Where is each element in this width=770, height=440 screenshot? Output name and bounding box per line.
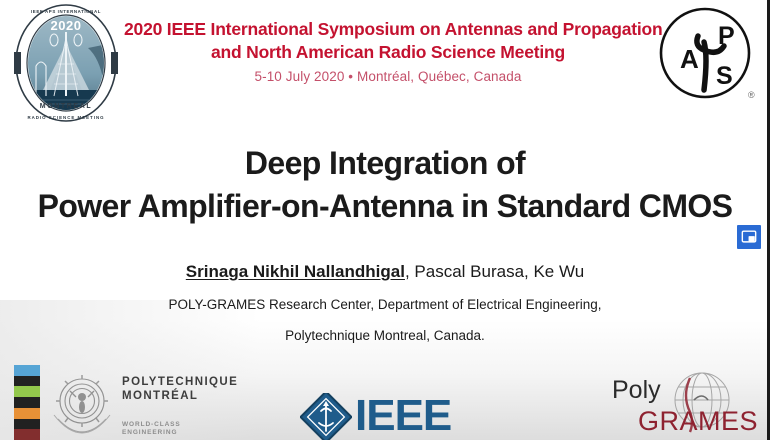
polytechnique-name-line1: POLYTECHNIQUE (122, 375, 238, 389)
badge-year-label: 2020 (51, 18, 82, 33)
picture-in-picture-button[interactable] (737, 225, 761, 249)
polytechnique-tagline-line2: ENGINEERING (122, 429, 181, 437)
aps-logo-icon: A P S ® (658, 6, 756, 104)
affiliation-line-2: Polytechnique Montreal, Canada. (0, 328, 770, 343)
title-line-2: Power Amplifier-on-Antenna in Standard C… (0, 184, 770, 228)
presentation-title: Deep Integration of Power Amplifier-on-A… (0, 143, 770, 228)
grames-wordmark: GRAMES (638, 406, 758, 436)
aps-registered-mark: ® (748, 90, 755, 100)
picture-in-picture-icon (741, 229, 757, 245)
aps-letter-p: P (718, 22, 735, 50)
ieee-wordmark: IEEE (355, 392, 451, 440)
poly-grames-logo: Poly GRAMES (608, 372, 758, 440)
presenting-author: Srinaga Nikhil Nallandhigal (186, 262, 405, 281)
polytechnique-name-line2: MONTRÉAL (122, 389, 238, 403)
conference-badge-icon: RADIO SCIENCE MEETING IEEE APS INTERNATI… (14, 4, 118, 122)
ieee-logo: IEEE (300, 392, 490, 440)
svg-text:RADIO SCIENCE MEETING: RADIO SCIENCE MEETING (27, 115, 104, 120)
author-list: Srinaga Nikhil Nallandhigal, Pascal Bura… (0, 262, 770, 282)
aps-letter-s: S (716, 62, 733, 90)
title-line-1: Deep Integration of (0, 143, 770, 184)
polytechnique-colorbar (14, 365, 40, 440)
polytechnique-wordmark: POLYTECHNIQUE MONTRÉAL (122, 375, 238, 403)
conference-badge-logo: RADIO SCIENCE MEETING IEEE APS INTERNATI… (14, 4, 118, 122)
coauthors: , Pascal Burasa, Ke Wu (405, 262, 584, 281)
aps-society-logo: A P S ® (658, 6, 756, 104)
affiliation-line-1: POLY-GRAMES Research Center, Department … (0, 297, 770, 312)
conference-title-line2: and North American Radio Science Meeting (124, 41, 652, 64)
aps-letter-a: A (680, 44, 699, 74)
polytechnique-tagline: WORLD-CLASS ENGINEERING (122, 421, 181, 437)
conference-title-line1: 2020 IEEE International Symposium on Ant… (124, 18, 652, 41)
badge-city-label: MONTREAL (40, 103, 92, 110)
polytechnique-crest-icon (48, 367, 116, 439)
polytechnique-tagline-line1: WORLD-CLASS (122, 421, 181, 429)
polytechnique-montreal-logo: POLYTECHNIQUE MONTRÉAL WORLD-CLASS ENGIN… (14, 365, 264, 440)
slide-header: RADIO SCIENCE MEETING IEEE APS INTERNATI… (0, 0, 770, 120)
conference-header-text: 2020 IEEE International Symposium on Ant… (124, 18, 652, 84)
grames-poly-text: Poly (612, 376, 661, 404)
svg-text:IEEE APS INTERNATIONAL: IEEE APS INTERNATIONAL (31, 9, 101, 14)
conference-date-location: 5-10 July 2020 • Montréal, Québec, Canad… (124, 69, 652, 84)
ieee-diamond-icon (300, 393, 352, 440)
presentation-slide: RADIO SCIENCE MEETING IEEE APS INTERNATI… (0, 0, 770, 440)
